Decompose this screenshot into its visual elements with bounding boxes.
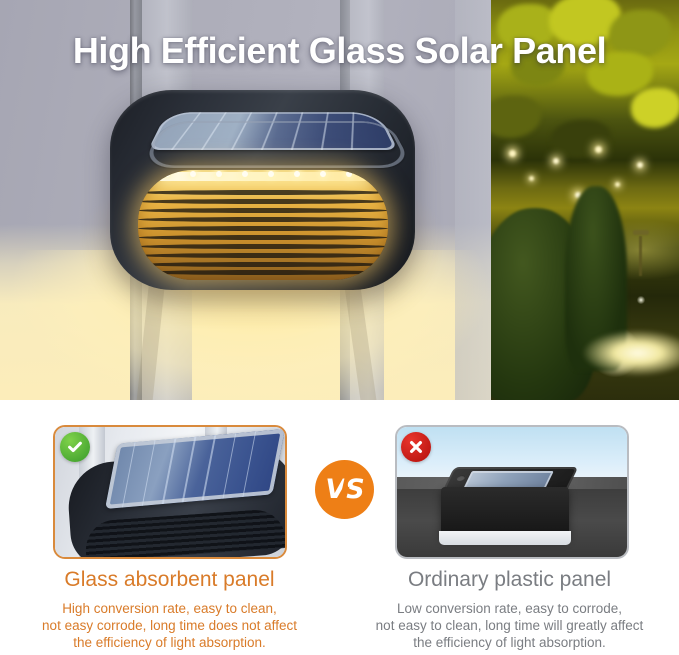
cross-circle-icon xyxy=(401,432,431,462)
garden-lamp-pole xyxy=(639,236,642,276)
bad-description-line: the efficiency of light absorption. xyxy=(340,634,679,651)
garden-lamp-head xyxy=(633,230,649,235)
check-circle-icon xyxy=(60,432,90,462)
good-heading: Glass absorbent panel xyxy=(0,568,339,592)
solar-panel-rim xyxy=(140,121,414,168)
comparison-column-good: Glass absorbent panel High conversion ra… xyxy=(0,400,339,655)
hero-section: High Efficient Glass Solar Panel xyxy=(0,0,679,400)
bad-description-line: Low conversion rate, easy to corrode, xyxy=(340,600,679,617)
good-description-line: the efficiency of light absorption. xyxy=(0,634,339,651)
comparison-section: Glass absorbent panel High conversion ra… xyxy=(0,400,679,655)
hero-title: High Efficient Glass Solar Panel xyxy=(0,30,679,72)
good-description-line: High conversion rate, easy to clean, xyxy=(0,600,339,617)
vs-badge: VS xyxy=(315,460,374,519)
good-description: High conversion rate, easy to clean, not… xyxy=(0,600,339,651)
bad-description-line: not easy to clean, long time will greatl… xyxy=(340,617,679,634)
led-louver-lens xyxy=(138,170,388,280)
lamp-base xyxy=(439,531,571,545)
comparison-column-bad: Ordinary plastic panel Low conversion ra… xyxy=(340,400,679,655)
good-description-line: not easy corrode, long time does not aff… xyxy=(0,617,339,634)
solar-wall-lamp xyxy=(110,90,415,290)
led-strip xyxy=(156,172,370,181)
bad-description: Low conversion rate, easy to corrode, no… xyxy=(340,600,679,651)
bad-heading: Ordinary plastic panel xyxy=(340,568,679,592)
product-feature-image: High Efficient Glass Solar Panel xyxy=(0,0,679,655)
